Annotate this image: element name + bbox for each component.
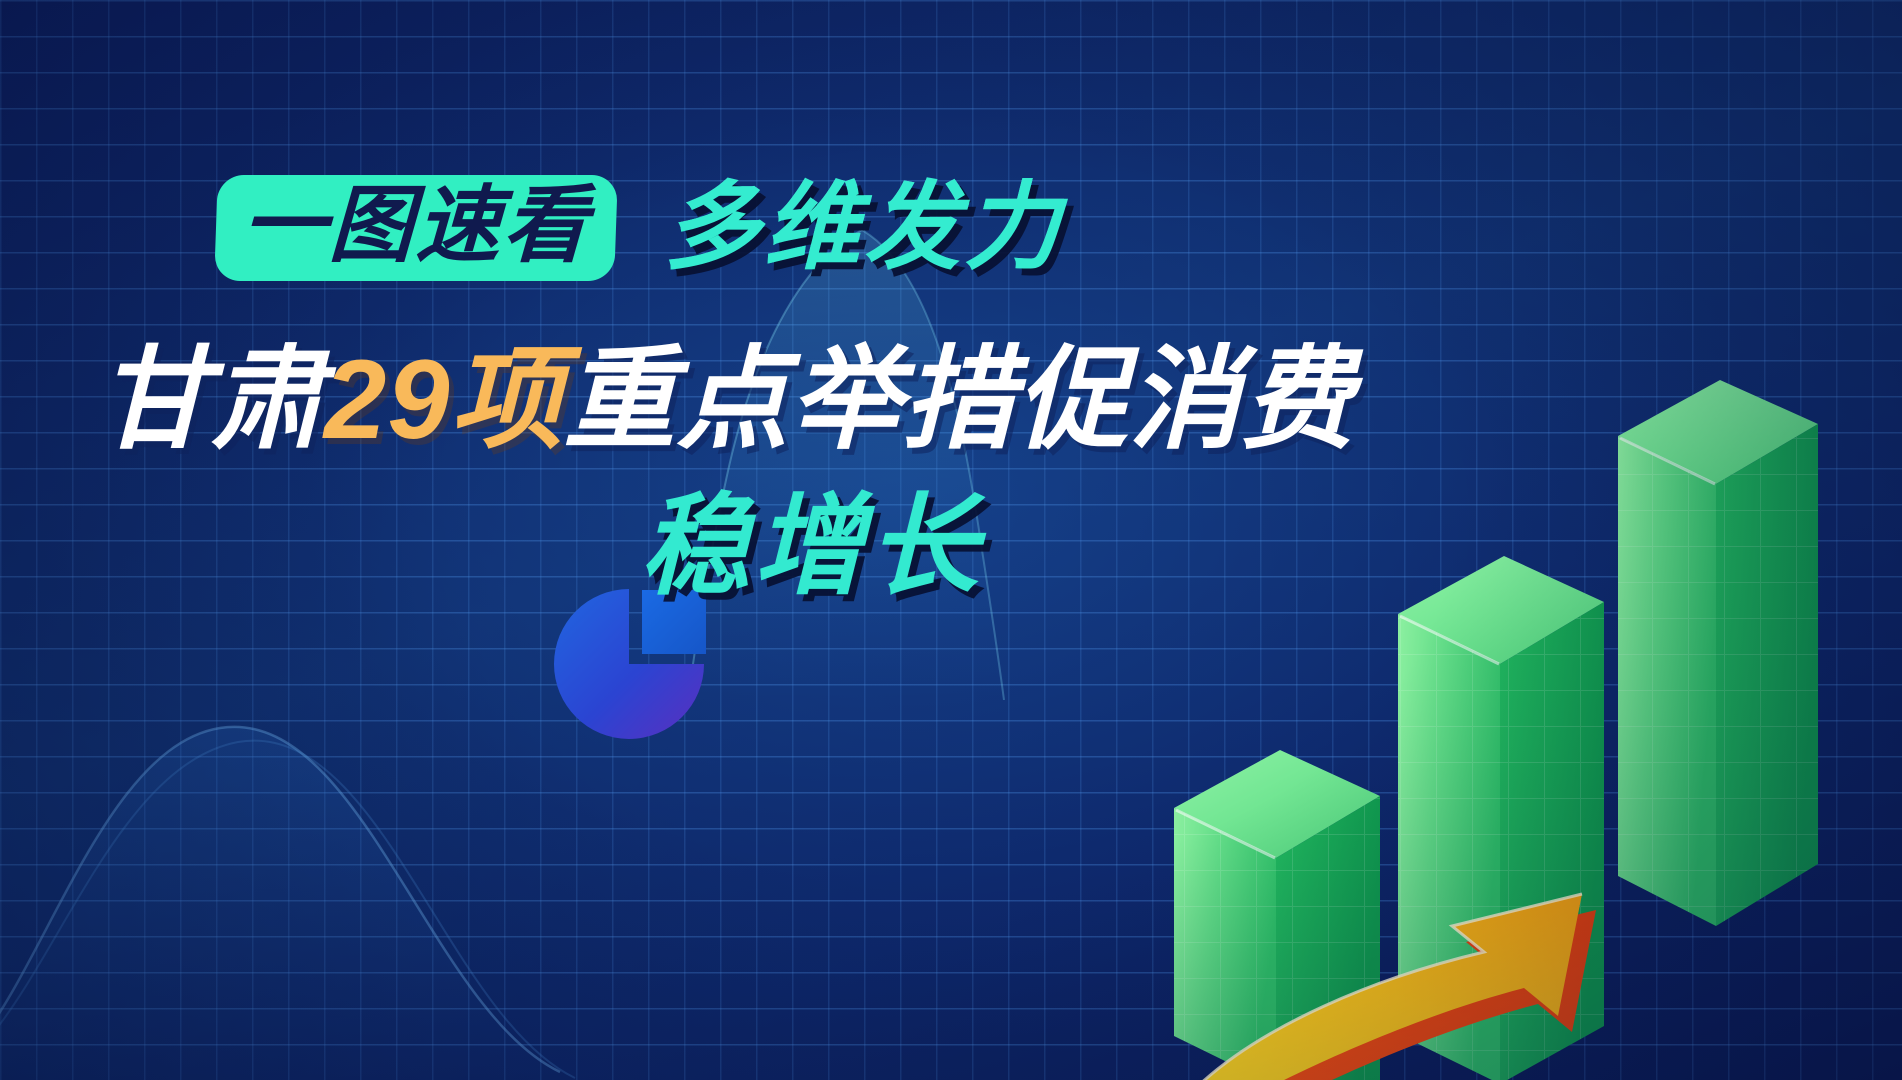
headline-measure-text: 重点举措促消费: [564, 337, 1355, 462]
headline-line-3: 稳增长: [640, 492, 982, 602]
poster-canvas: 一图速看 多维发力 甘肃29项重点举措促消费 稳增长: [0, 0, 1902, 1080]
headline-block: 一图速看 多维发力 甘肃29项重点举措促消费 稳增长: [0, 0, 1902, 1080]
headline-line-1: 一图速看 多维发力: [216, 175, 1064, 281]
headline-highlight-cyan: 多维发力: [664, 180, 1064, 276]
headline-province: 甘肃: [98, 337, 324, 462]
headline-line-2: 甘肃29项重点举措促消费: [98, 344, 1355, 456]
badge-label: 一图速看: [214, 175, 618, 281]
headline-measure-count: 29项: [324, 337, 564, 462]
